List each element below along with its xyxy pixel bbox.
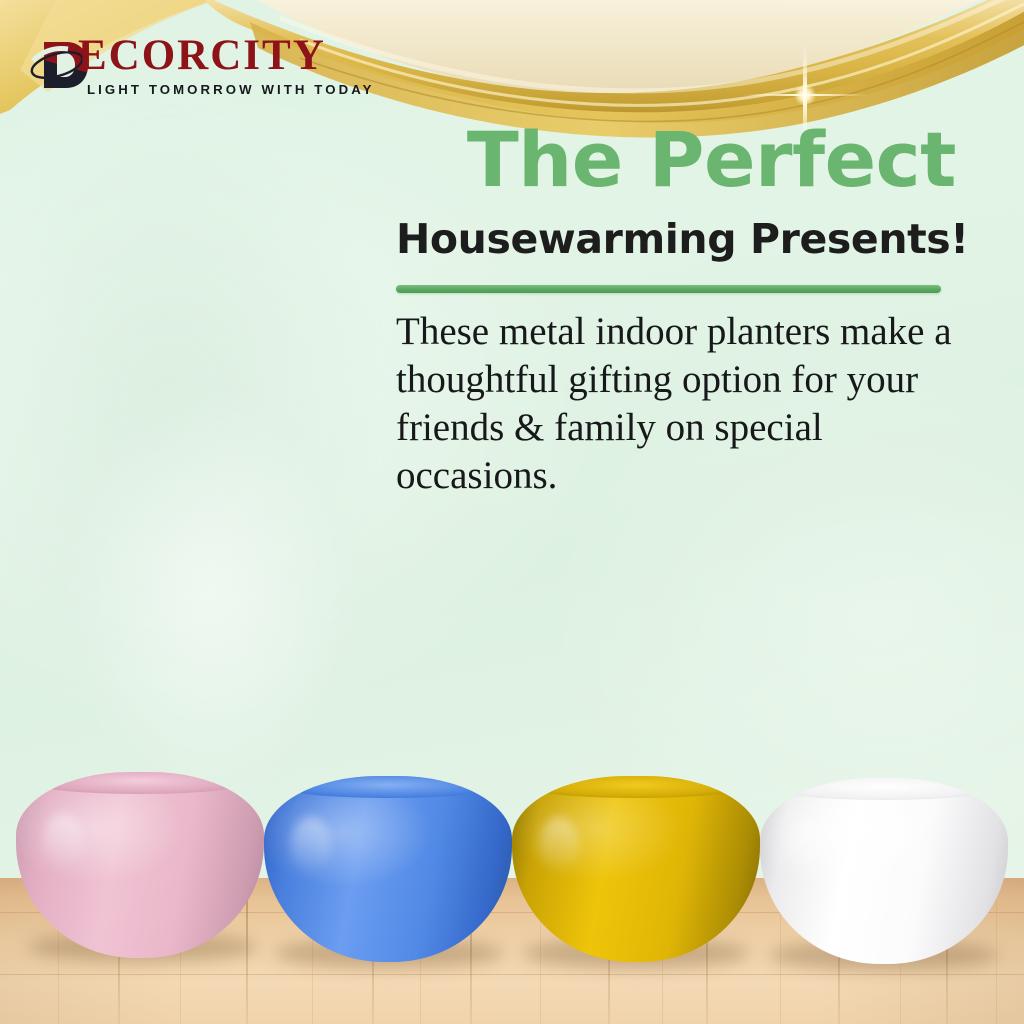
planter-gloss: [43, 813, 83, 869]
planter-gloss: [539, 817, 579, 873]
planter-rim: [281, 776, 494, 798]
headline-block: The Perfect Housewarming Presents!: [396, 120, 956, 264]
headline-secondary: Housewarming Presents!: [396, 214, 956, 264]
wood-grain: [996, 878, 997, 1024]
wall-highlight-center: [60, 380, 360, 810]
planter-gloss: [291, 817, 331, 873]
planter-rim: [33, 772, 246, 794]
headline-divider: [396, 285, 941, 293]
plank-row-line: [0, 974, 1024, 975]
headline-primary: The Perfect: [396, 120, 956, 200]
brand-wordmark: ECORCITY: [78, 30, 326, 82]
description-paragraph: These metal indoor planters make a thoug…: [396, 308, 976, 500]
brand-logo[interactable]: ECORCITY LIGHT TOMORROW WITH TODAY: [30, 30, 410, 108]
planter-gloss: [787, 819, 827, 875]
promo-banner: ECORCITY LIGHT TOMORROW WITH TODAY The P…: [0, 0, 1024, 1024]
planter-rim: [529, 776, 742, 798]
brand-tagline: LIGHT TOMORROW WITH TODAY: [87, 82, 375, 97]
planter-rim: [777, 778, 990, 800]
